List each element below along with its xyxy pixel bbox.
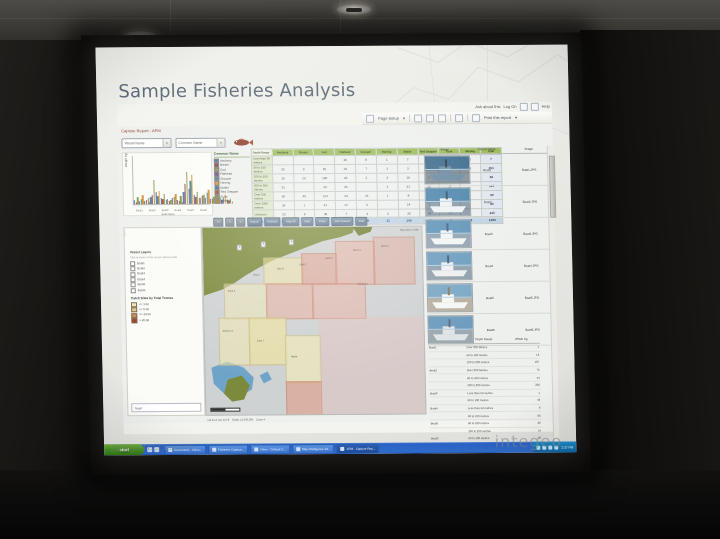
vessel-photo[interactable] <box>424 155 471 184</box>
action-button-refresh[interactable]: Refresh <box>264 217 281 226</box>
pivot-cell[interactable]: 16 <box>398 173 419 182</box>
taskbar-item-label: APM - Capture Rep... <box>347 446 376 450</box>
color-swatch-icon <box>131 313 137 318</box>
map-region-label: Bay A <box>253 273 259 276</box>
pivot-cell[interactable]: 26 <box>273 201 294 210</box>
pivot-cell[interactable]: 9 <box>293 165 314 174</box>
pivot-cell[interactable]: 29 <box>335 165 356 174</box>
pivot-cell[interactable] <box>272 156 293 165</box>
action-button-export[interactable]: Export <box>247 217 262 226</box>
vessel-image-cell[interactable] <box>427 282 470 314</box>
toolbar-divider <box>450 114 451 121</box>
page-title: Sample Fisheries Analysis <box>118 80 355 102</box>
common-name-combo[interactable]: Common Name ▾ <box>175 138 225 148</box>
pivot-column-header[interactable]: Flathead <box>335 148 356 156</box>
pivot-cell[interactable]: 180 <box>314 174 335 183</box>
menu-ask-about[interactable]: Ask about this <box>475 104 500 109</box>
vessel-image-cell[interactable] <box>424 154 467 186</box>
map-status-zoom: Zoom 4 <box>256 418 265 421</box>
toolbar-divider <box>467 114 468 121</box>
printer-icon[interactable] <box>472 114 480 122</box>
catch-bin-rows: <= 1.00<= 5.00<= 20.00> 20.00 <box>131 301 174 323</box>
vessel-column-header[interactable]: Vessel Name <box>466 144 508 154</box>
taskbar-item[interactable]: APM - Capture Rep... <box>337 443 380 453</box>
fish-logo-icon <box>229 138 253 148</box>
checkbox-icon[interactable] <box>130 277 135 282</box>
page-setup-label[interactable]: Page Setup <box>378 116 399 121</box>
map-cell[interactable] <box>266 283 315 319</box>
map-status-scale: Scale 1:2,500,000 <box>232 418 253 421</box>
warning-icon <box>366 114 374 122</box>
pivot-cell[interactable]: 23 <box>293 174 314 183</box>
map-cell[interactable] <box>335 241 376 285</box>
species-legend-item[interactable]: Whiting <box>215 199 251 204</box>
pivot-row-header[interactable]: 50 to 100 metres <box>252 165 273 174</box>
app-icon <box>341 446 345 450</box>
chart-bar-group[interactable] <box>166 156 184 204</box>
vessel-file-cell: Boat4.JPG <box>510 249 553 281</box>
report-page: Capture Report - APM Vessel Name ▾ Commo… <box>117 124 559 424</box>
filter-bar: Vessel Name ▾ Common Name ▾ <box>121 138 253 149</box>
ceiling-downlight <box>337 4 371 15</box>
pivot-cell[interactable]: 3 <box>356 201 377 210</box>
target-field[interactable]: Target <box>131 403 201 412</box>
vessel-layer-item[interactable]: Boat6 <box>131 287 178 293</box>
map-cell[interactable] <box>263 257 304 285</box>
map-region-label: Zone 3 <box>228 290 236 293</box>
chart-bar-group[interactable] <box>182 156 200 204</box>
pivot-column-header[interactable]: Mullet <box>397 148 418 156</box>
chart-x-tick: Boat6 <box>200 209 207 212</box>
app-icon <box>254 447 258 451</box>
pivot-cell[interactable]: 2 <box>356 174 377 183</box>
map-status-bar: Lat 41.2 Lon 147.8 Scale 1:2,500,000 Zoo… <box>205 414 426 423</box>
taskbar-item[interactable]: Map Intelligence Ad... <box>292 443 335 453</box>
chevron-down-icon[interactable]: ▾ <box>216 139 224 147</box>
pivot-row-header[interactable]: Over 1000 metres <box>252 201 273 210</box>
vessel-photo[interactable] <box>427 283 474 312</box>
presentation-slide: Sample Fisheries Analysis Ask about this… <box>95 45 576 456</box>
map-cell[interactable] <box>312 283 367 319</box>
map-cell[interactable] <box>373 237 416 285</box>
gear-icon[interactable] <box>520 102 528 110</box>
pivot-cell[interactable]: 1 <box>376 156 397 165</box>
map-legend-panel: Vessel Layers Click to show or hide vess… <box>123 227 205 416</box>
export-icon[interactable] <box>455 114 463 122</box>
pivot-column-header[interactable]: Anchovy <box>272 149 293 157</box>
action-button-map[interactable]: Map <box>301 217 314 226</box>
species-legend-title: Common Name <box>214 152 250 158</box>
vessel-column-header[interactable]: Image <box>508 144 550 154</box>
map-region-label: Basin <box>291 355 297 358</box>
vessel-table: ImageVessel NameImage Boat1Boat1.JPGBoat… <box>424 144 554 347</box>
pivot-cell[interactable] <box>377 201 398 210</box>
pivot-cell[interactable]: 34 <box>335 192 356 201</box>
chevron-down-icon[interactable]: ▾ <box>162 139 170 147</box>
catch-bins-section: Catch Sites by Total Tonnes <= 1.00<= 5.… <box>131 296 174 323</box>
vessel-file-cell: Boat2.JPG <box>509 185 552 217</box>
vessel-photo[interactable] <box>426 251 473 280</box>
vessel-photo[interactable] <box>425 187 472 216</box>
chart-x-tick: Boat4 <box>174 209 181 212</box>
search-icon[interactable] <box>426 114 434 122</box>
menu-help[interactable]: Help <box>542 104 550 109</box>
map-region-label: Grid 21 <box>353 249 361 252</box>
pivot-cell[interactable]: 41 <box>315 201 336 210</box>
pivot-cell[interactable]: 14 <box>398 200 419 209</box>
projection-screen: Sample Fisheries Analysis Ask about this… <box>95 45 576 456</box>
pivot-cell[interactable]: 7 <box>356 165 377 174</box>
pivot-cell[interactable]: 1 <box>377 165 398 174</box>
chart-plot-area <box>132 156 210 205</box>
vessel-name-cell: Boat1 <box>466 153 509 185</box>
table-row[interactable]: Boat4Boat4.JPG <box>426 249 553 282</box>
color-swatch-icon <box>131 307 137 312</box>
pivot-cell[interactable]: 1 <box>377 192 398 201</box>
zoom-icon[interactable] <box>438 114 446 122</box>
chart-y-axis-label: Weight Kg <box>124 153 128 167</box>
pivot-column-header[interactable]: Grouper <box>355 148 376 156</box>
action-button-chart[interactable]: Chart <box>315 217 329 226</box>
chart-x-tick: Boat1 <box>136 209 143 212</box>
vessel-layer-rows: Boat1Boat2Boat3Boat4Boat5Boat6 <box>130 260 178 293</box>
pivot-cell[interactable]: 124 <box>315 192 336 201</box>
pivot-cell[interactable]: 28 <box>335 174 356 183</box>
table-row[interactable]: Boat2Boat2.JPG <box>425 185 552 218</box>
browser-window: Ask about this Log On Help Page Setup ▾ <box>117 102 559 435</box>
catch-bin-item[interactable]: > 20.00 <box>131 318 173 324</box>
vessel-image-cell[interactable] <box>425 186 468 218</box>
pivot-cell[interactable]: 60 <box>273 192 294 201</box>
depth-column-header[interactable]: Depth Range <box>465 334 503 344</box>
pivot-row-header[interactable]: 200 to 500 metres <box>252 183 273 192</box>
depth-column-header[interactable]: Whale Kg <box>502 334 540 344</box>
pivot-cell[interactable]: 9 <box>356 156 377 165</box>
menu-log-on[interactable]: Log On <box>503 104 516 109</box>
wall-right <box>580 30 720 539</box>
checkbox-icon[interactable] <box>130 261 135 266</box>
report-header: Capture Report - APM <box>121 128 160 133</box>
vessel-image-cell[interactable] <box>426 250 469 282</box>
map-intelligence-brand: MAP INTELLIGENCE <box>112 443 195 453</box>
vessel-image-table: ImageVessel NameImage Boat1Boat1.JPGBoat… <box>424 144 554 347</box>
vessel-file-cell: Boat5.JPG <box>511 281 554 313</box>
vessel-layer-subtitle: Click to show or hide vessel capture poi… <box>130 255 177 258</box>
chart-x-axis-label: Boat Name <box>124 213 212 217</box>
color-swatch-icon <box>131 318 137 323</box>
map-copyright: Map data © 2009 <box>400 228 418 231</box>
pivot-cell[interactable]: 35 <box>272 165 293 174</box>
taskbar-item[interactable]: Fisheries Capture... <box>208 444 248 454</box>
map-vessel-chip[interactable]: ● <box>261 241 267 247</box>
color-swatch-icon <box>131 302 137 307</box>
toolbar-divider <box>409 115 410 122</box>
action-button-edit[interactable]: Edit <box>356 217 368 226</box>
depth-column-header[interactable] <box>428 334 466 344</box>
checkbox-icon[interactable] <box>130 266 135 271</box>
first-page-icon[interactable] <box>414 114 422 122</box>
pivot-cell[interactable]: 51 <box>273 183 294 192</box>
map-status-lat-lon: Lat 41.2 Lon 147.8 <box>208 418 230 421</box>
pivot-cell[interactable]: 26 <box>273 174 294 183</box>
chart-x-tick: Boat3 <box>162 209 169 212</box>
pivot-cell[interactable]: 1 <box>294 201 315 210</box>
chart-x-tick: Boat2 <box>149 209 156 212</box>
pivot-cell[interactable] <box>293 156 314 165</box>
taskbar-item[interactable]: Inbox - Outlook E... <box>250 444 290 454</box>
wall-bottom <box>0 470 720 539</box>
report-action-buttons: <<<>ExportRefreshMap AllMapChartAdd Vess… <box>213 217 367 226</box>
pivot-cell[interactable]: 31 <box>398 182 419 191</box>
pivot-column-header[interactable]: Herring <box>376 148 397 156</box>
vessel-layer-label: Boat6 <box>138 288 146 293</box>
chart-x-tick: Boat5 <box>187 209 194 212</box>
species-legend: Common Name AnchovyBreamCodFlatheadGroup… <box>214 152 251 204</box>
action-button-map-all[interactable]: Map All <box>283 217 299 226</box>
pivot-row-header[interactable]: 100 to 200 metres <box>252 174 273 183</box>
catch-bin-label: > 20.00 <box>139 318 149 323</box>
vessel-name-combo[interactable]: Vessel Name ▾ <box>121 138 171 148</box>
room: Sample Fisheries Analysis Ask about this… <box>0 0 720 539</box>
species-legend-label: Whiting <box>221 199 231 203</box>
map-cell[interactable] <box>318 316 425 414</box>
pivot-cell[interactable]: 3 <box>377 174 398 183</box>
pivot-cell[interactable]: 34 <box>314 183 335 192</box>
map-region-label: Shelf 1 <box>299 263 307 266</box>
vessel-column-header[interactable]: Image <box>424 144 466 154</box>
vessel-file-cell: Boat1.JPG <box>508 153 551 185</box>
map-cell[interactable] <box>248 317 287 365</box>
catch-weight-chart: Weight Kg Boat1Boat2Boat3Boat4Boat5Boat6… <box>122 152 213 217</box>
map-cell[interactable] <box>285 335 322 383</box>
map-region-label: Shelf 2 <box>325 257 333 260</box>
pivot-cell[interactable]: 26 <box>335 183 356 192</box>
vessel-name-value: Vessel Name <box>124 141 144 145</box>
pivot-total-cell: 109 <box>399 217 420 225</box>
chart-bar-group[interactable] <box>133 156 151 204</box>
vessel-file-cell: Boat3.JPG <box>509 217 552 249</box>
map-vessel-chip[interactable]: ● <box>289 239 295 245</box>
integeo-brand: integeo <box>494 432 562 451</box>
pivot-cell[interactable]: 30 <box>398 209 419 217</box>
vessel-name-cell: Boat2 <box>467 185 510 217</box>
pager-button[interactable]: < <box>225 218 234 227</box>
map-vessel-chip[interactable]: ● <box>237 245 243 251</box>
pivot-cell[interactable] <box>294 183 315 192</box>
pivot-cell[interactable]: 8 <box>398 191 419 200</box>
pivot-column-header[interactable]: Bream <box>293 149 314 157</box>
gis-map[interactable]: ● ● ● Zone 3 Bay A Bay B Shelf 1 Shelf 2… <box>201 225 426 415</box>
checkbox-icon[interactable] <box>131 288 136 293</box>
checkbox-icon[interactable] <box>130 272 135 277</box>
pivot-cell[interactable] <box>314 156 335 165</box>
map-cell[interactable] <box>218 318 251 366</box>
pivot-total-cell: 11 <box>378 217 399 225</box>
pivot-cell[interactable]: 7 <box>397 155 418 164</box>
map-legend-titlebar <box>124 228 125 236</box>
pivot-cell[interactable]: 4 <box>378 210 399 218</box>
help-icon[interactable] <box>531 102 539 110</box>
table-row[interactable]: Boat1Boat1.JPG <box>424 153 551 186</box>
vessel-layer-title: Vessel Layers <box>130 250 177 254</box>
pager-button[interactable]: << <box>213 218 223 227</box>
chart-bar-group[interactable] <box>149 156 167 204</box>
pivot-row-header[interactable]: Less than 50 metres <box>251 156 272 165</box>
projection-screen-frame: Sample Fisheries Analysis Ask about this… <box>81 33 591 476</box>
vessel-layer-section: Vessel Layers Click to show or hide vess… <box>130 250 178 293</box>
app-icon <box>212 447 216 451</box>
taskbar-item-label: Inbox - Outlook E... <box>260 447 286 451</box>
pivot-cell[interactable] <box>356 183 377 192</box>
vessel-name-cell: Boat3 <box>467 217 510 249</box>
browser-menubar: Ask about this Log On Help <box>475 102 550 111</box>
vessel-name-cell: Boat4 <box>468 249 511 281</box>
vessel-name-cell: Boat5 <box>469 281 512 313</box>
vessel-table-body: Boat1Boat1.JPGBoat2Boat2.JPGBoat3Boat3.J… <box>424 153 554 346</box>
color-swatch-icon <box>215 199 220 204</box>
action-button-add-vessels[interactable]: Add Vessels <box>331 217 354 226</box>
pivot-corner: Depth Range <box>251 149 272 157</box>
table-row[interactable]: Boat3Boat3.JPG <box>425 217 552 250</box>
map-cell[interactable] <box>286 381 323 416</box>
pivot-cell[interactable]: 1 <box>377 183 398 192</box>
map-region-label: Sector 14 <box>223 330 233 333</box>
vessel-photo[interactable] <box>425 219 472 248</box>
table-row[interactable]: Boat5Boat5.JPG <box>427 281 554 314</box>
map-region-label: Zone 7 <box>257 339 265 342</box>
app-icon <box>296 447 300 451</box>
chevron-down-icon[interactable]: ▾ <box>515 115 517 120</box>
pivot-cell[interactable]: 82 <box>314 165 335 174</box>
pivot-cell[interactable]: 3 <box>397 164 418 173</box>
species-legend-rows: AnchovyBreamCodFlatheadGrouperHerringMul… <box>214 158 251 203</box>
catch-bins-title: Catch Sites by Total Tonnes <box>131 296 173 300</box>
checkbox-icon[interactable] <box>131 283 136 288</box>
pivot-cell[interactable]: 22 <box>336 201 357 210</box>
map-region-label: Grid 22 <box>381 245 389 248</box>
chart-x-tick-labels: Boat1Boat2Boat3Boat4Boat5Boat6 <box>133 209 210 212</box>
map-region-label: Bay B <box>277 267 283 270</box>
common-name-value: Common Name <box>178 141 202 145</box>
pivot-row-header[interactable]: Over 500 metres <box>252 192 273 201</box>
vessel-image-cell[interactable] <box>425 218 468 250</box>
chevron-down-icon[interactable]: ▾ <box>403 116 405 121</box>
print-report-link[interactable]: Print this report <box>484 115 511 120</box>
taskbar-item-label: Fisheries Capture... <box>218 447 244 451</box>
taskbar-item-label: Map Intelligence Ad... <box>302 447 331 451</box>
target-value: Target <box>134 406 142 410</box>
map-region-label: Sector 12 <box>358 283 368 286</box>
pivot-cell[interactable]: 45 <box>294 192 315 201</box>
map-scale-bar <box>210 408 240 412</box>
pivot-cell[interactable]: 36 <box>335 156 356 165</box>
pager-button[interactable]: > <box>236 218 245 227</box>
pivot-cell[interactable]: 24 <box>356 192 377 201</box>
pivot-column-header[interactable]: Cod <box>314 149 335 157</box>
